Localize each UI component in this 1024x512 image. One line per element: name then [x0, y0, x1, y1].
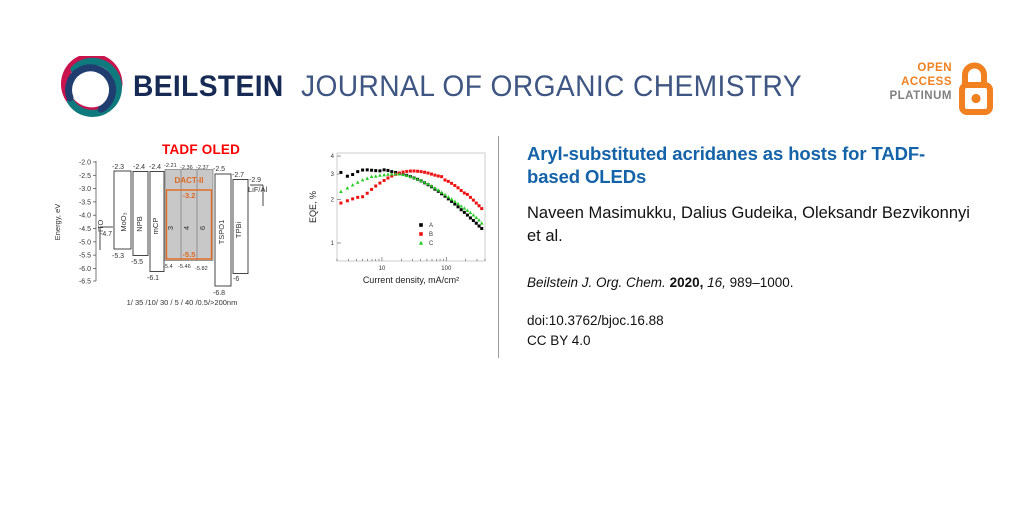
citation-year: 2020,	[670, 275, 704, 290]
svg-text:A: A	[429, 223, 433, 229]
article-doi[interactable]: doi:10.3762/bjoc.16.88	[527, 311, 977, 331]
svg-text:-2.36: -2.36	[180, 165, 193, 171]
svg-text:NPB: NPB	[135, 216, 144, 231]
svg-text:3: 3	[166, 226, 175, 230]
svg-text:mCP: mCP	[151, 218, 160, 235]
svg-text:-5.4: -5.4	[163, 264, 173, 270]
svg-text:MoO₃: MoO₃	[119, 212, 128, 231]
svg-text:-2.5: -2.5	[79, 173, 91, 180]
svg-text:-2.21: -2.21	[164, 163, 177, 169]
journal-wordmark: BEILSTEIN JOURNAL OF ORGANIC CHEMISTRY	[133, 70, 834, 104]
svg-text:-2.5: -2.5	[213, 166, 225, 173]
svg-text:-2.3: -2.3	[112, 164, 124, 171]
svg-text:-6: -6	[233, 276, 239, 283]
svg-text:Energy, eV: Energy, eV	[53, 204, 62, 241]
svg-text:100: 100	[441, 266, 452, 272]
svg-text:4: 4	[182, 226, 191, 230]
layer-thickness-caption: 1/ 35 /10/ 30 / 5 / 40 /0.5/>200nm	[127, 298, 238, 307]
svg-text:Current density, mA/cm²: Current density, mA/cm²	[363, 275, 459, 285]
svg-text:TPBi: TPBi	[234, 222, 243, 239]
svg-text:LiF/Al: LiF/Al	[248, 185, 268, 194]
svg-text:6: 6	[198, 226, 207, 230]
article-title: Aryl-substituted acridanes as hosts for …	[527, 142, 977, 189]
svg-text:1: 1	[331, 241, 335, 247]
svg-text:DACT-II: DACT-II	[175, 176, 204, 185]
svg-text:-4.7: -4.7	[100, 231, 112, 238]
eqe-chart-svg: 101001234Current density, mA/cm²EQE, %AB…	[303, 143, 493, 303]
svg-text:-3.5: -3.5	[79, 199, 91, 206]
wordmark-beilstein: BEILSTEIN	[133, 70, 284, 104]
article-citation: Beilstein J. Org. Chem. 2020, 16, 989–10…	[527, 274, 977, 293]
energy-level-diagram: TADF OLED -2.0 -2.5 -3.0 -3.5 -4.0 -4.5 …	[50, 140, 282, 310]
svg-text:-5.0: -5.0	[79, 239, 91, 246]
svg-text:-3.0: -3.0	[79, 186, 91, 193]
svg-text:C: C	[429, 241, 434, 247]
eqe-vs-current-density-chart: 101001234Current density, mA/cm²EQE, %AB…	[303, 143, 493, 303]
svg-text:-5.5: -5.5	[79, 253, 91, 260]
svg-text:-2.0: -2.0	[79, 160, 91, 167]
oa-line-open: OPEN	[889, 61, 952, 75]
article-license: CC BY 4.0	[527, 331, 977, 351]
svg-text:-6.0: -6.0	[79, 266, 91, 273]
citation-volume: 16,	[707, 275, 726, 290]
oa-line-platinum: PLATINUM	[889, 89, 952, 103]
svg-text:-6.8: -6.8	[213, 290, 225, 297]
wordmark-subtitle: JOURNAL OF ORGANIC CHEMISTRY	[301, 70, 802, 104]
svg-text:-4.5: -4.5	[79, 226, 91, 233]
oa-line-access: ACCESS	[889, 75, 952, 89]
beilstein-circle-logo-icon	[57, 56, 125, 124]
svg-text:-4.0: -4.0	[79, 213, 91, 220]
article-info-panel: Aryl-substituted acridanes as hosts for …	[527, 142, 977, 350]
svg-text:-5.5: -5.5	[183, 250, 196, 259]
page-header: BEILSTEIN JOURNAL OF ORGANIC CHEMISTRY O…	[0, 0, 1024, 135]
svg-text:B: B	[429, 232, 433, 238]
svg-text:-6.5: -6.5	[79, 279, 91, 286]
svg-text:-2.4: -2.4	[149, 164, 161, 171]
article-authors: Naveen Masimukku, Dalius Gudeika, Oleksa…	[527, 202, 977, 249]
svg-text:-2.9: -2.9	[249, 177, 261, 184]
svg-text:10: 10	[379, 266, 386, 272]
svg-text:4: 4	[331, 154, 335, 160]
svg-text:-2.7: -2.7	[232, 172, 244, 179]
citation-journal: Beilstein J. Org. Chem.	[527, 275, 666, 290]
svg-text:TSPO1: TSPO1	[217, 220, 226, 245]
svg-text:-5.3: -5.3	[112, 253, 124, 260]
open-access-text: OPEN ACCESS PLATINUM	[889, 61, 952, 103]
svg-text:-5.82: -5.82	[195, 266, 208, 272]
series-C	[339, 172, 483, 225]
svg-text:-3.2: -3.2	[183, 191, 196, 200]
svg-text:-2.4: -2.4	[133, 164, 145, 171]
svg-text:-6.1: -6.1	[147, 275, 159, 282]
svg-text:EQE, %: EQE, %	[308, 191, 318, 223]
svg-text:3: 3	[331, 172, 335, 178]
svg-text:-5.5: -5.5	[131, 259, 143, 266]
svg-text:2: 2	[331, 198, 335, 204]
citation-pages: 989–1000.	[730, 275, 794, 290]
open-lock-icon	[956, 62, 996, 116]
svg-text:-2.37: -2.37	[196, 165, 209, 171]
energy-diagram-svg: -2.0 -2.5 -3.0 -3.5 -4.0 -4.5 -5.0 -5.5 …	[50, 140, 282, 310]
open-access-badge: OPEN ACCESS PLATINUM	[886, 61, 996, 119]
panel-divider	[498, 136, 499, 358]
svg-text:-5.46: -5.46	[178, 264, 191, 270]
